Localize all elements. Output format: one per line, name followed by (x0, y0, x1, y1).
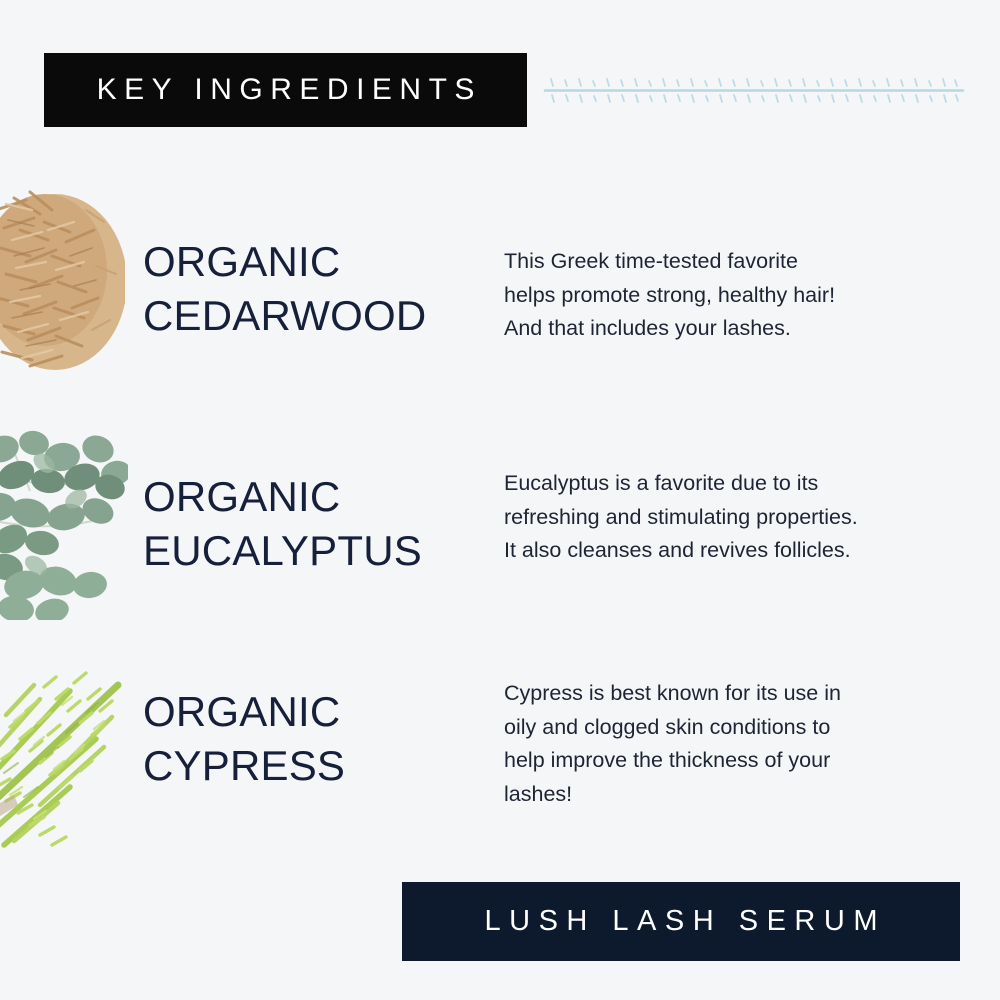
ingredient-description-eucalyptus: Eucalyptus is a favorite due to its refr… (504, 467, 924, 568)
brand-name: LUSH LASH SERUM (476, 905, 886, 938)
ingredient-row-cedarwood: ORGANIC CEDARWOOD This Greek time-tested… (0, 170, 1000, 385)
ingredient-description-cedarwood: This Greek time-tested favorite helps pr… (504, 245, 924, 346)
cedarwood-chips-photo (0, 170, 125, 380)
ingredient-row-cypress: ORGANIC CYPRESS Cypress is best known fo… (0, 655, 1000, 855)
ingredient-heading-eucalyptus: ORGANIC EUCALYPTUS (143, 470, 422, 578)
eucalyptus-leaves-photo (0, 425, 128, 620)
ingredient-row-eucalyptus: ORGANIC EUCALYPTUS Eucalyptus is a favor… (0, 425, 1000, 625)
cypress-frond-photo (0, 655, 130, 850)
ingredient-heading-cedarwood: ORGANIC CEDARWOOD (143, 235, 426, 343)
lush-lash-serum-banner: LUSH LASH SERUM (402, 882, 960, 961)
ingredient-description-cypress: Cypress is best known for its use in oil… (504, 677, 924, 811)
page-title: KEY INGREDIENTS (89, 73, 482, 107)
dotted-line-divider-icon (543, 62, 965, 118)
ingredients-infographic: KEY INGREDIENTS (0, 0, 1000, 1000)
key-ingredients-banner: KEY INGREDIENTS (44, 53, 527, 127)
ingredient-heading-cypress: ORGANIC CYPRESS (143, 685, 345, 793)
